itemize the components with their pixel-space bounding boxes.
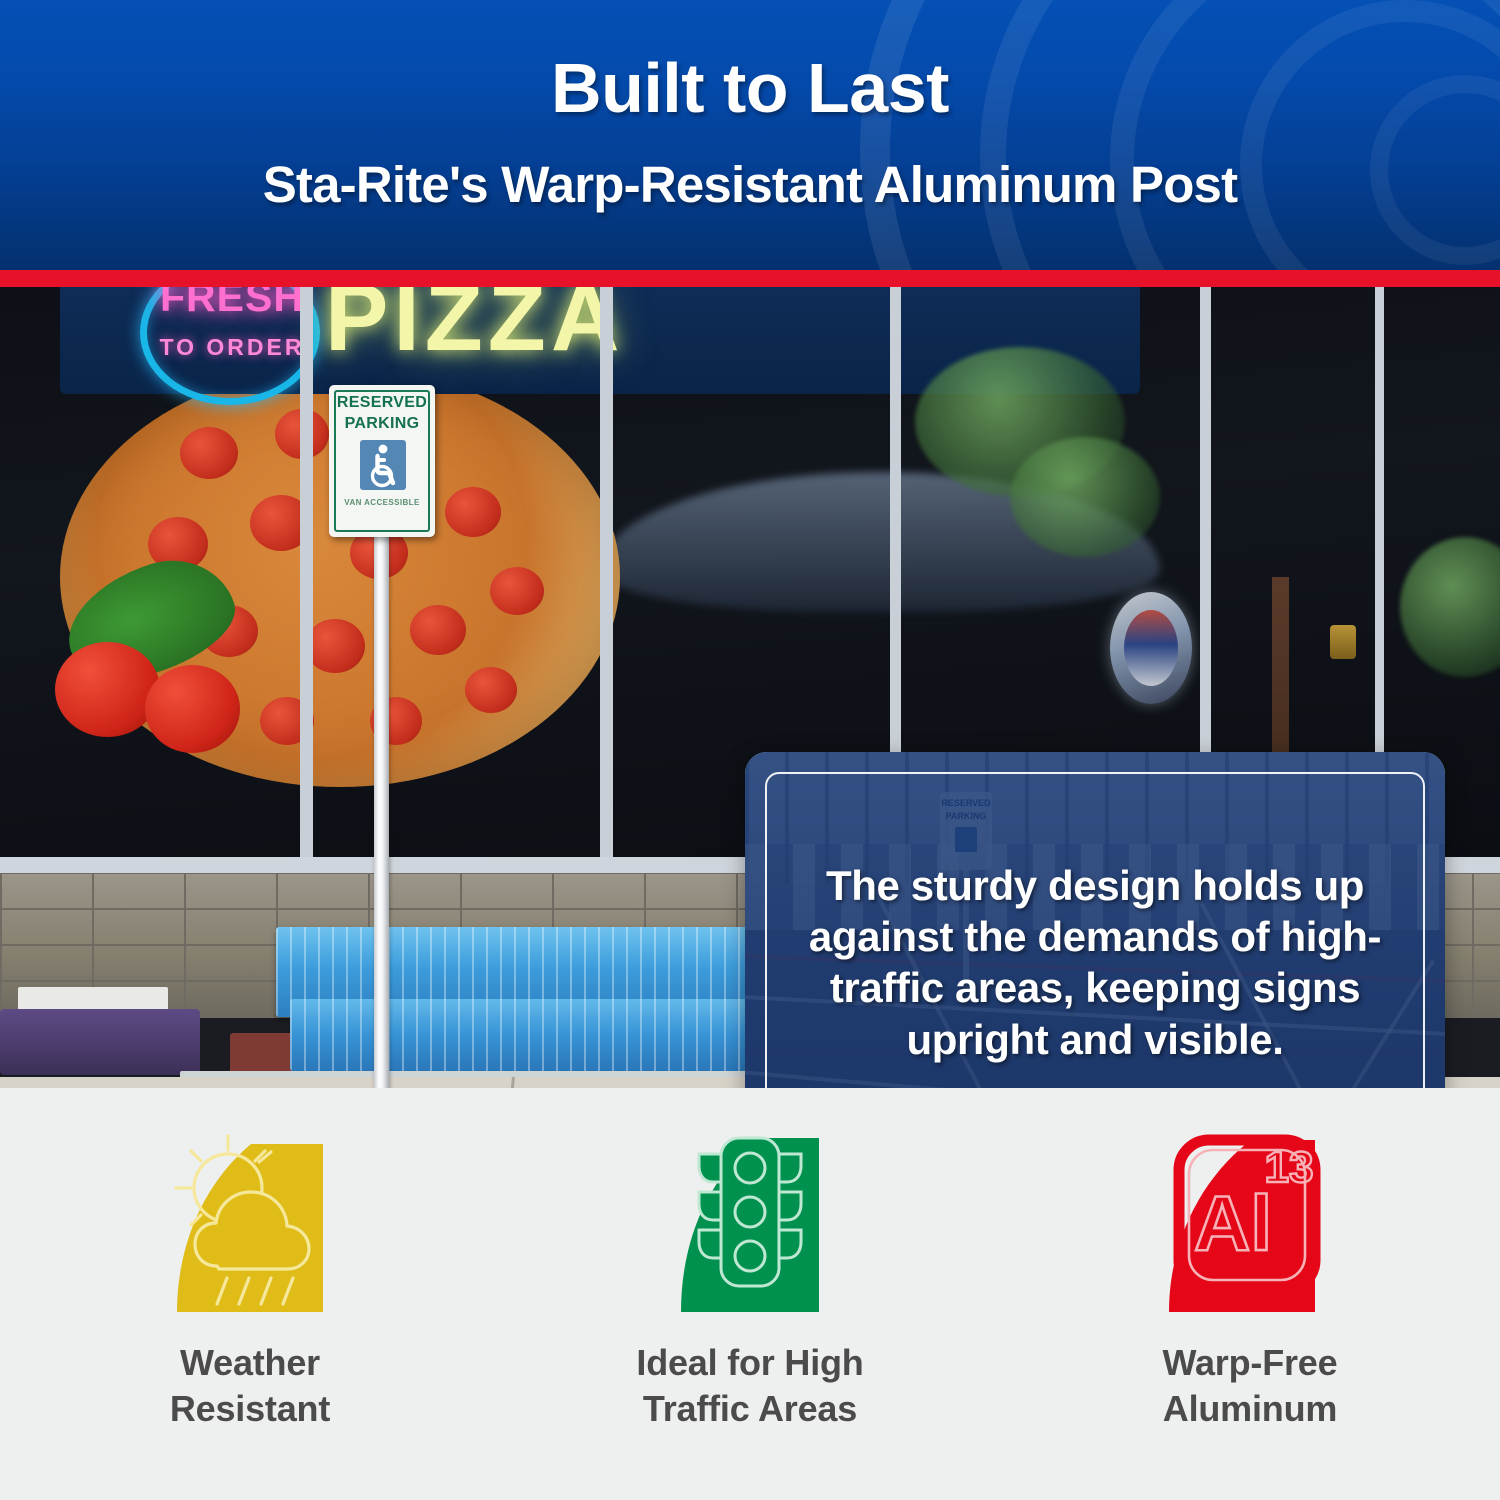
water-bottle-pallet-lower (290, 999, 765, 1071)
feature-label-weather-line1: Weather (180, 1342, 320, 1383)
feature-label-weather-line2: Resistant (170, 1388, 330, 1429)
brass-lamp-reflection (1330, 625, 1356, 659)
feature-label-traffic-line1: Ideal for High (636, 1342, 863, 1383)
red-divider-bar (0, 270, 1500, 287)
decorative-arcs (800, 0, 1500, 270)
feature-warp-free-aluminum: Al 13 Warp-Free Aluminum (1000, 1088, 1500, 1500)
header-subtitle: Sta-Rite's Warp-Resistant Aluminum Post (0, 155, 1500, 214)
window-mullion (600, 287, 613, 872)
callout-box: RESERVED PARKING The sturdy design holds… (745, 752, 1445, 1088)
feature-strip: Weather Resistant (0, 1088, 1500, 1500)
product-infographic: Built to Last Sta-Rite's Warp-Resistant … (0, 0, 1500, 1500)
aluminum-sign-post (374, 462, 389, 1088)
traffic-light-icon (655, 1126, 845, 1312)
feature-label-traffic-line2: Traffic Areas (643, 1388, 857, 1429)
feature-label-aluminum: Warp-Free Aluminum (1163, 1340, 1338, 1432)
neon-pizza-text: PIZZA (325, 287, 624, 373)
feature-label-traffic: Ideal for High Traffic Areas (636, 1340, 863, 1432)
callout-message: The sturdy design holds up against the d… (775, 860, 1415, 1065)
element-number-text: 13 (1265, 1143, 1314, 1192)
tomato-2 (145, 665, 240, 753)
tomato-1 (55, 642, 160, 737)
tree-reflection-2 (1010, 437, 1160, 557)
header-title: Built to Last (0, 48, 1500, 128)
feature-weather-resistant: Weather Resistant (0, 1088, 500, 1500)
element-symbol-text: Al (1194, 1179, 1272, 1267)
feature-label-aluminum-line1: Warp-Free (1163, 1342, 1338, 1383)
sign-line-van-accessible: VAN ACCESSIBLE (329, 498, 435, 507)
window-mullion (300, 287, 313, 872)
window-emblem (1110, 592, 1192, 704)
feature-label-weather: Weather Resistant (170, 1340, 330, 1432)
feature-high-traffic: Ideal for High Traffic Areas (500, 1088, 1000, 1500)
header-banner: Built to Last Sta-Rite's Warp-Resistant … (0, 0, 1500, 270)
feature-label-aluminum-line2: Aluminum (1163, 1388, 1337, 1429)
reserved-parking-sign: RESERVED PARKING VAN ACCESSIBLE (329, 385, 435, 537)
sign-line-reserved: RESERVED (329, 394, 435, 412)
aluminum-element-icon: Al 13 (1155, 1126, 1345, 1312)
wheelchair-accessible-icon (360, 440, 406, 490)
merchandise-bags (0, 1009, 200, 1075)
product-photo: FRESH TO ORDER PIZZA (0, 287, 1500, 1088)
sun-cloud-rain-icon (155, 1126, 345, 1312)
window-emblem-inner (1124, 610, 1178, 686)
sign-line-parking: PARKING (329, 415, 435, 433)
